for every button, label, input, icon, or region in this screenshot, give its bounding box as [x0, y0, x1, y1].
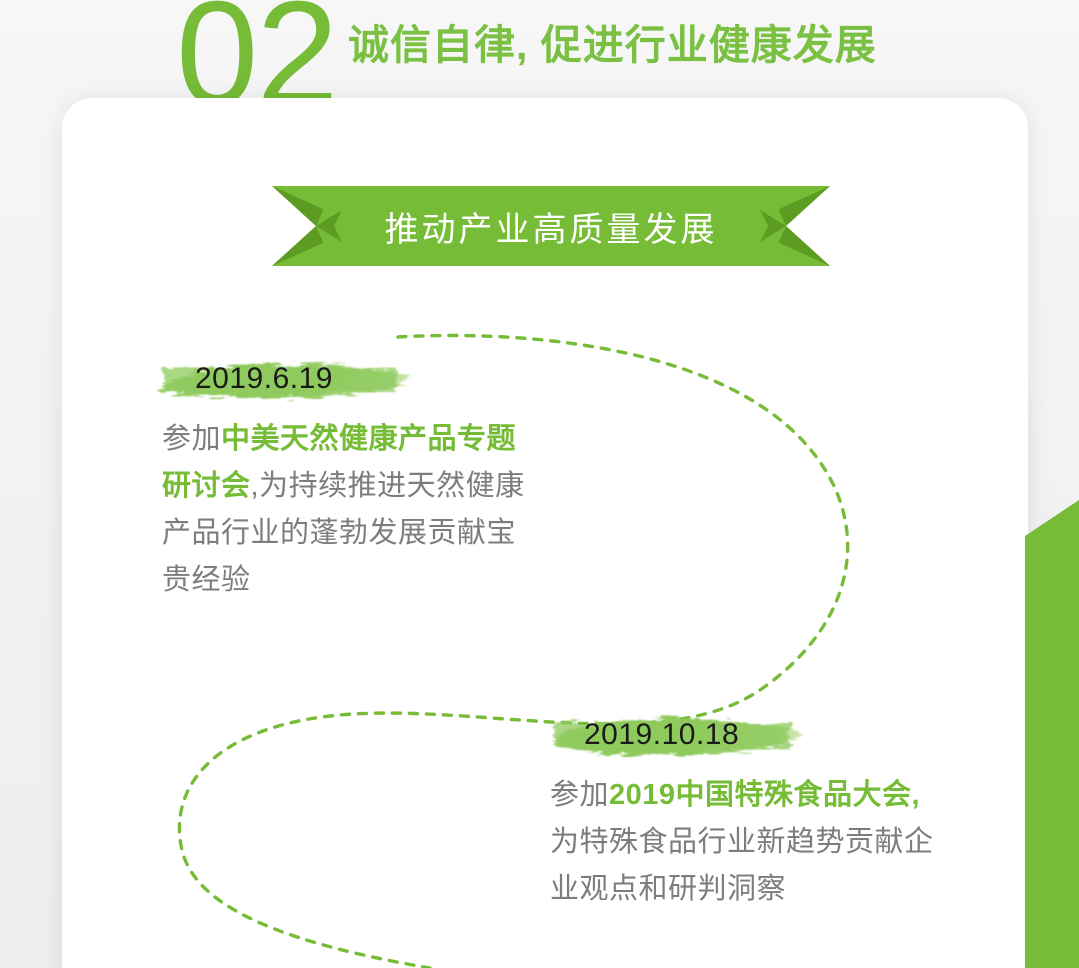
page-title: 诚信自律, 促进行业健康发展: [348, 23, 877, 68]
date-label: 2019.10.18: [540, 704, 856, 766]
timeline-entry: 2019.10.18 参加2019中国特殊食品大会,为特殊食品行业新趋势贡献企业…: [540, 704, 942, 913]
date-badge: 2019.10.18: [540, 704, 812, 766]
date-label: 2019.6.19: [148, 348, 467, 410]
right-edge-green-band: [1025, 500, 1079, 968]
ribbon-banner: 推动产业高质量发展: [272, 186, 830, 266]
ribbon-label: 推动产业高质量发展: [272, 186, 830, 266]
date-badge: 2019.6.19: [148, 348, 420, 410]
body-segment-plain: 为特殊食品行业新趋势贡献企业观点和研判洞察: [550, 826, 934, 905]
section-header: 02 诚信自律, 促进行业健康发展: [0, 0, 1079, 98]
body-segment-plain: 参加: [162, 423, 221, 455]
infographic-slide: 02 诚信自律, 促进行业健康发展: [0, 0, 1079, 968]
timeline-entry: 2019.6.19 参加中美天然健康产品专题研讨会,为持续推进天然健康产品行业的…: [148, 348, 534, 604]
body-segment-highlight: 2019中国特殊食品大会,: [609, 779, 920, 811]
section-number: 02: [176, 0, 337, 98]
entry-body: 参加2019中国特殊食品大会,为特殊食品行业新趋势贡献企业观点和研判洞察: [550, 772, 942, 913]
entry-body: 参加中美天然健康产品专题研讨会,为持续推进天然健康产品行业的蓬勃发展贡献宝贵经验: [162, 416, 534, 604]
body-segment-plain: 参加: [550, 779, 609, 811]
